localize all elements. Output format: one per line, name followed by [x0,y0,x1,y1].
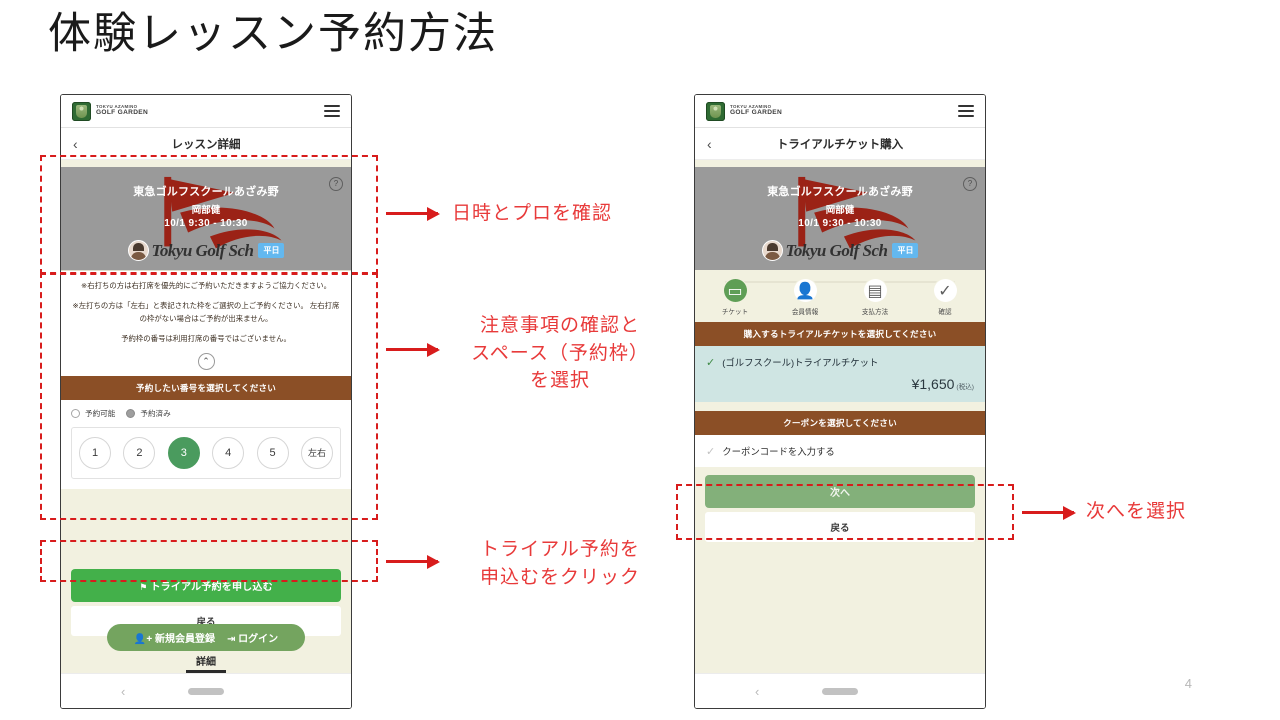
annotation-text-apply: トライアル予約を 申込むをクリック [452,536,668,591]
ticket-price: ¥1,650(税込) [706,376,974,392]
chevron-left-icon[interactable]: ‹ [73,137,78,151]
step-支払方法[interactable]: ▤支払方法 [849,279,901,316]
annotation-text-next: 次へを選択 [1086,498,1280,526]
coupon-code-option[interactable]: ✓ クーポンコードを入力する [695,435,985,467]
instructor-avatar [762,240,783,261]
login-button[interactable]: ⇥ ログイン [227,630,278,645]
auth-pill: 👤+ 新規会員登録 ⇥ ログイン [107,624,305,651]
brand-logo: TOKYU AZAMINO GOLF GARDEN [706,102,782,121]
step-label: 支払方法 [849,306,901,316]
annotation-arrow-slots [386,348,438,351]
android-back-icon[interactable]: ‹ [121,684,125,699]
phone-mockup-ticket-purchase: TOKYU AZAMINO GOLF GARDEN ‹ トライアルチケット購入 … [694,94,986,709]
step-確認[interactable]: ✓確認 [919,279,971,316]
ticket-option[interactable]: ✓ (ゴルフスクール)トライアルチケット ¥1,650(税込) [695,346,985,402]
annotation-box-next [676,484,1014,540]
detail-tab-label: 詳細 [71,653,341,668]
check-icon-dim: ✓ [706,445,715,458]
hero-watermark: Tokyu Golf Sch [786,241,888,261]
hamburger-menu-icon[interactable] [958,105,974,117]
coupon-section-header: クーポンを選択してください [695,411,985,435]
weekday-badge: 平日 [892,243,918,258]
check-icon: ✓ [934,279,957,302]
spacer [695,160,985,167]
golf-garden-shield-icon [706,102,725,121]
annotation-arrow-next [1022,511,1074,514]
content-spacer [695,542,985,673]
ticket-name: (ゴルフスクール)トライアルチケット [722,355,878,369]
annotation-arrow-hero [386,212,438,215]
check-icon: ✓ [706,356,715,369]
annotation-box-slots [40,272,378,520]
android-nav-bar: ‹ [695,673,985,708]
annotation-box-hero [40,155,378,275]
brand-line-2: GOLF GARDEN [96,110,148,117]
person-icon: 👤 [794,279,817,302]
android-home-pill[interactable] [188,688,224,695]
spacer [695,402,985,411]
hero-pro-name: 岡部健 [695,202,985,216]
page-title: 体験レッスン予約方法 [48,8,498,62]
android-back-icon[interactable]: ‹ [755,684,759,699]
ticket-section-header: 購入するトライアルチケットを選択してください [695,322,985,346]
screen-title: トライアルチケット購入 [695,136,985,152]
screen-title: レッスン詳細 [61,136,351,152]
android-home-pill[interactable] [822,688,858,695]
step-label: 確認 [919,306,971,316]
brand-line-2: GOLF GARDEN [730,110,782,117]
step-label: チケット [709,306,761,316]
annotation-text-slots: 注意事項の確認と スペース（予約枠） を選択 [452,312,668,395]
annotation-text-hero: 日時とプロを確認 [452,200,662,228]
credit-card-icon: ▤ [864,279,887,302]
app-header: TOKYU AZAMINO GOLF GARDEN [695,95,985,128]
annotation-arrow-apply [386,560,438,563]
lesson-hero-banner: ? 東急ゴルフスクールあざみ野 岡部健 10/1 9:30 - 10:30 To… [695,167,985,270]
step-チケット[interactable]: ▭チケット [709,279,761,316]
hero-school-name: 東急ゴルフスクールあざみ野 [695,183,985,199]
detail-tab[interactable]: 詳細 [71,653,341,673]
ticket-tax-note: (税込) [956,384,974,391]
ticket-icon: ▭ [724,279,747,302]
chevron-left-icon[interactable]: ‹ [707,137,712,151]
android-nav-bar: ‹ [61,673,351,708]
step-label: 会員情報 [779,306,831,316]
golf-garden-shield-icon [72,102,91,121]
signup-button[interactable]: 👤+ 新規会員登録 [134,630,215,645]
screen-header: ‹ トライアルチケット購入 [695,128,985,160]
apply-trial-label: トライアル予約を申し込む [150,582,272,593]
checkout-stepper: ▭チケット👤会員情報▤支払方法✓確認 [695,270,985,322]
golf-flag-icon: ⚑ [139,582,147,592]
page-number: 4 [1185,676,1192,691]
app-header: TOKYU AZAMINO GOLF GARDEN [61,95,351,128]
coupon-code-label: クーポンコードを入力する [722,444,835,458]
hamburger-menu-icon[interactable] [324,105,340,117]
brand-logo: TOKYU AZAMINO GOLF GARDEN [72,102,148,121]
hero-datetime: 10/1 9:30 - 10:30 [695,218,985,229]
annotation-box-apply [40,540,378,582]
step-会員情報[interactable]: 👤会員情報 [779,279,831,316]
